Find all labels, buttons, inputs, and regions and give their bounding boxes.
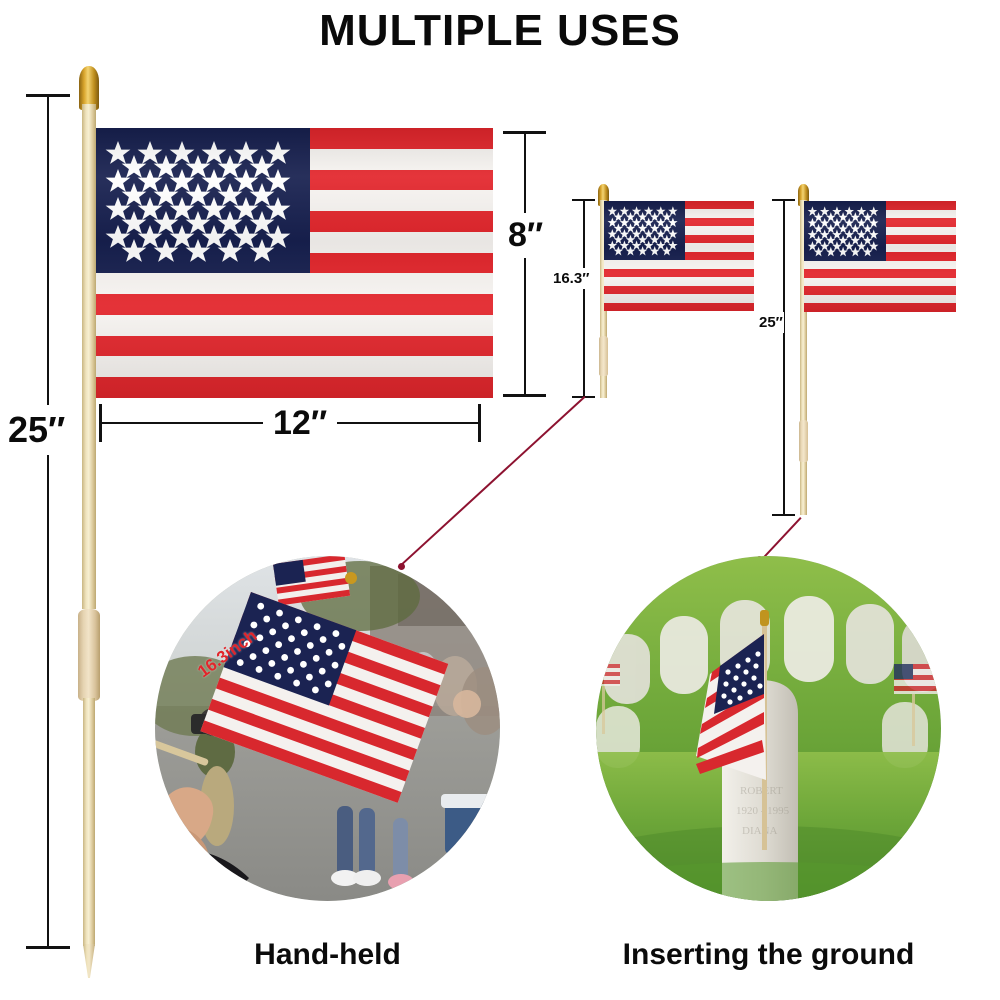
right-flag [804,201,956,312]
right-flag-dimension-line [783,200,785,516]
flag-height-tick-top [503,131,546,134]
main-flag-pole-point [83,944,95,978]
main-flag-pole-lower [83,698,95,946]
fifty-stars-icon [804,201,886,261]
fifty-stars-icon [96,128,310,273]
hand-held-photo: 16.3inch [155,556,500,901]
svg-text:DIANA: DIANA [742,825,777,837]
flag-width-label: 12″ [263,402,337,445]
overall-height-label: 25″ [6,405,67,455]
overall-height-tick-bottom [26,946,70,949]
middle-flag-pole-sleeve [599,336,608,376]
leader-head-hand-held [398,563,405,570]
right-flag-canton [804,201,886,261]
overall-height-dimension-line [47,95,49,948]
page-title: MULTIPLE USES [0,6,1000,56]
main-flag-pole-sleeve [78,609,100,701]
middle-flag [604,201,754,311]
flag-height-dimension-line [524,132,526,396]
inserting-ground-photo: ROBERT 1920 - 1995 DIANA [596,556,941,901]
right-flag-tick-top [772,199,795,201]
flag-width-tick-left [99,404,102,442]
infographic-canvas: MULTIPLE USES 25″ [0,0,1000,1000]
main-flag [96,128,493,398]
right-flag-dimension-label: 25″ [758,312,784,333]
right-flag-pole-sleeve [799,420,808,462]
middle-flag-dimension-label: 16.3″ [552,268,590,289]
hand-held-caption: Hand-held [155,938,500,972]
inserting-ground-caption: Inserting the ground [596,938,941,972]
svg-text:ROBERT: ROBERT [740,785,783,797]
middle-flag-canton [604,201,685,260]
middle-flag-tick-top [572,199,595,201]
middle-flag-dimension-line [583,200,585,398]
flag-height-label: 8″ [506,213,545,258]
main-flag-pole-upper [82,104,96,609]
flag-height-tick-bottom [503,394,546,397]
overall-height-tick-top [26,94,70,97]
main-flag-canton [96,128,310,273]
flag-width-tick-right [478,404,481,442]
right-flag-tick-bottom [772,514,795,516]
fifty-stars-icon [604,201,685,260]
